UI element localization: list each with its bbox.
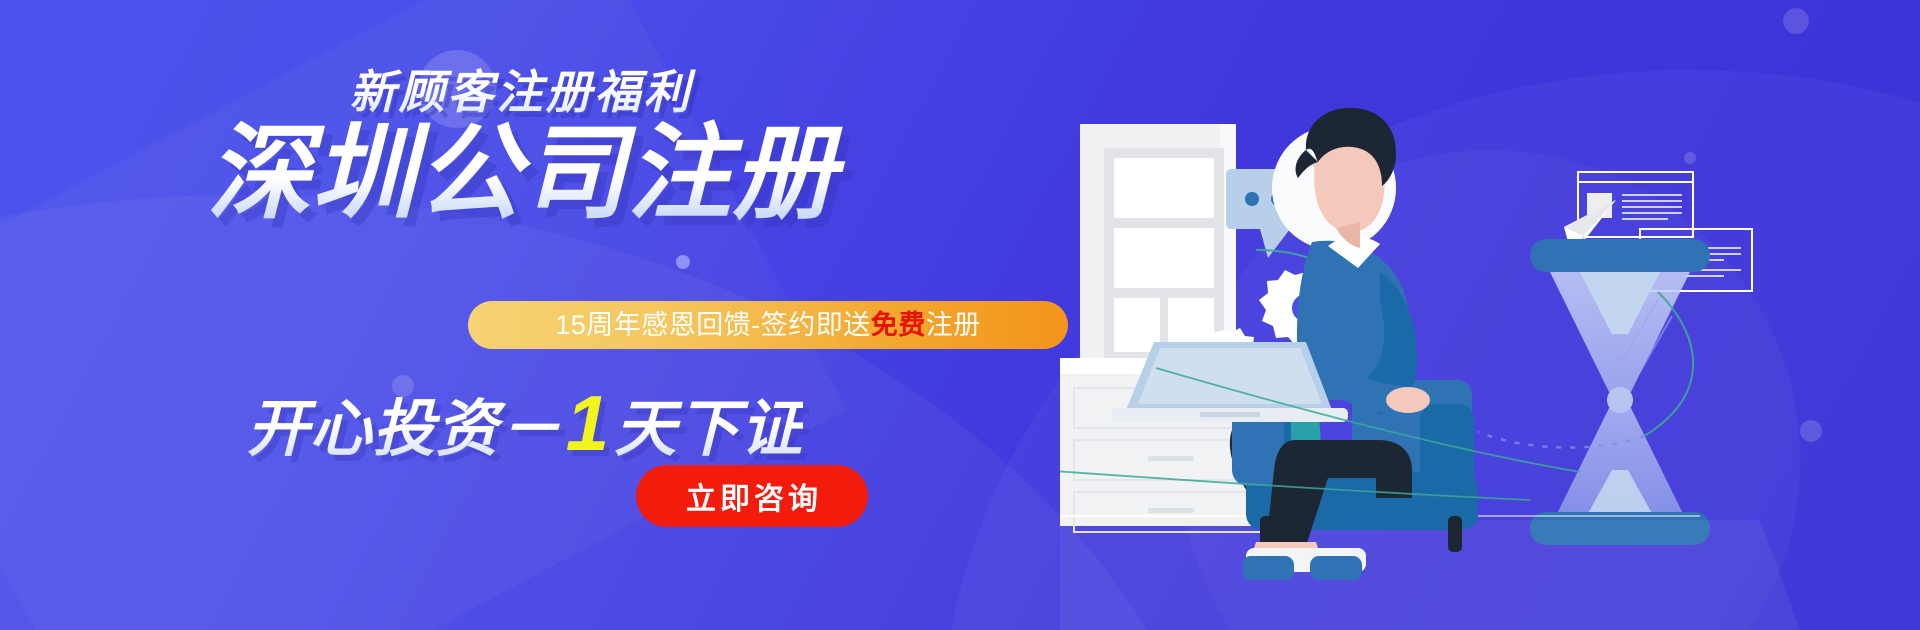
- tagline-after: 天下证: [614, 395, 803, 464]
- promo-badge-prefix: 15周年感恩回馈-签约即送: [555, 312, 871, 339]
- eyebrow-text: 新顾客注册福利: [0, 56, 1060, 122]
- promo-banner: 新顾客注册福利 深圳公司注册 15周年感恩回馈-签约即送免费注册 开心投资－1天…: [0, 0, 1920, 630]
- page-title: 深圳公司注册: [0, 116, 1060, 232]
- promo-badge-highlight: 免费: [871, 312, 926, 339]
- document-card-lines: [1622, 195, 1682, 219]
- promo-badge-suffix: 注册: [926, 312, 981, 339]
- tagline-before: 开心投资－: [247, 395, 562, 464]
- tagline: 开心投资－1天下证: [0, 378, 1060, 469]
- tagline-number: 1: [562, 379, 614, 467]
- consult-now-label: 立即咨询: [682, 474, 822, 518]
- consult-now-button[interactable]: 立即咨询: [636, 465, 868, 527]
- illustration: [1060, 0, 1920, 630]
- promo-badge: 15周年感恩回馈-签约即送免费注册: [468, 301, 1068, 349]
- banner-copy: 新顾客注册福利 深圳公司注册 15周年感恩回馈-签约即送免费注册 开心投资－1天…: [0, 0, 1060, 630]
